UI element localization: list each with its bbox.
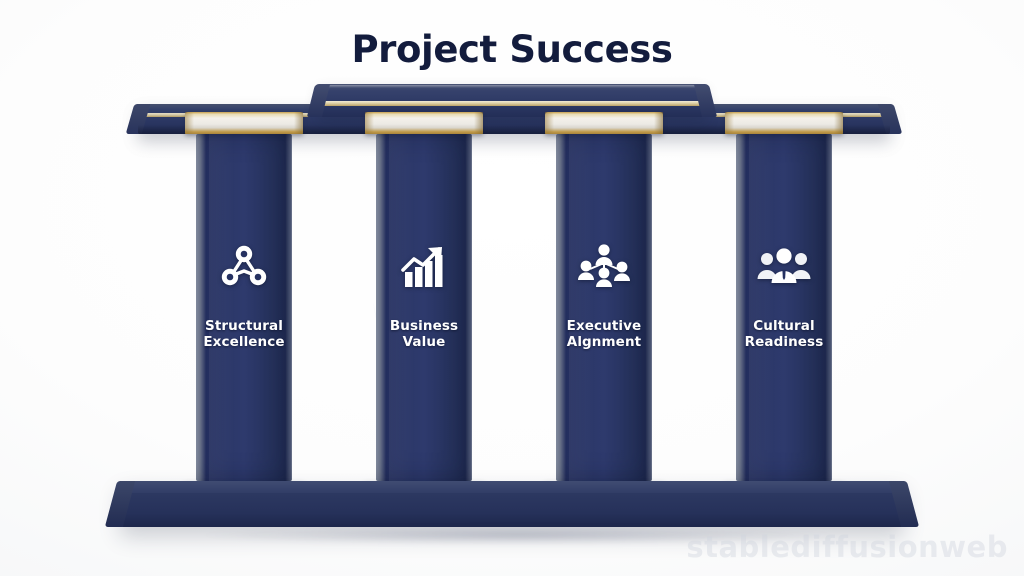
pillar-label-line1: Business xyxy=(390,318,458,334)
pillar-content: Cultural Readiness xyxy=(736,242,832,350)
pillar-label-line1: Cultural xyxy=(753,318,814,334)
org-chart-people-icon xyxy=(576,242,632,292)
infographic-canvas: Project Success xyxy=(0,0,1024,576)
temple-graphic: Structural Excellence xyxy=(0,0,1024,576)
entablature-center-right-cap xyxy=(694,84,717,117)
network-nodes-icon xyxy=(216,242,272,292)
pillar-capital xyxy=(185,112,303,134)
pillar-capital xyxy=(725,112,843,134)
entablature-center-left-cap xyxy=(307,84,330,117)
capital-left-shade xyxy=(725,112,734,134)
pillar-label-line1: Structural xyxy=(205,318,283,334)
platform-right-cap xyxy=(889,481,919,527)
entablature-gloss xyxy=(324,85,700,88)
capital-left-shade xyxy=(185,112,194,134)
capital-right-shade xyxy=(294,112,303,134)
pillar-capital xyxy=(365,112,483,134)
pillar-label-line2: Readiness xyxy=(745,334,824,350)
pillar-label: Structural Excellence xyxy=(203,318,284,350)
pillar-label-line2: Excellence xyxy=(203,334,284,350)
pillar-label-line2: Value xyxy=(403,334,446,350)
pillar-capital xyxy=(545,112,663,134)
capital-left-shade xyxy=(365,112,374,134)
pillar-label-line1: Executive xyxy=(567,318,642,334)
capital-right-shade xyxy=(654,112,663,134)
pillar-business-value[interactable]: Business Value xyxy=(376,134,472,481)
capital-left-shade xyxy=(545,112,554,134)
pillar-content: Structural Excellence xyxy=(196,242,292,350)
pillar-cultural-readiness[interactable]: Cultural Readiness xyxy=(736,134,832,481)
pillar-label: Cultural Readiness xyxy=(745,318,824,350)
entablature-left-cap xyxy=(126,104,151,134)
capital-right-shade xyxy=(474,112,483,134)
capital-right-shade xyxy=(834,112,843,134)
pillar-label: Executive Algnment xyxy=(567,318,642,350)
watermark: stablediffusionweb xyxy=(686,530,1008,564)
platform-top-face xyxy=(120,481,904,493)
bar-chart-growth-icon xyxy=(396,242,452,292)
entablature-right-cap xyxy=(878,104,903,134)
pillar-content: Executive Algnment xyxy=(556,242,652,350)
pillar-content: Business Value xyxy=(376,242,472,350)
people-group-icon xyxy=(756,242,812,292)
platform-left-cap xyxy=(105,481,135,527)
pillar-structural-excellence[interactable]: Structural Excellence xyxy=(196,134,292,481)
base-platform xyxy=(120,481,904,527)
pillar-label: Business Value xyxy=(390,318,458,350)
pillar-label-line2: Algnment xyxy=(567,334,641,350)
pillar-executive-alignment[interactable]: Executive Algnment xyxy=(556,134,652,481)
